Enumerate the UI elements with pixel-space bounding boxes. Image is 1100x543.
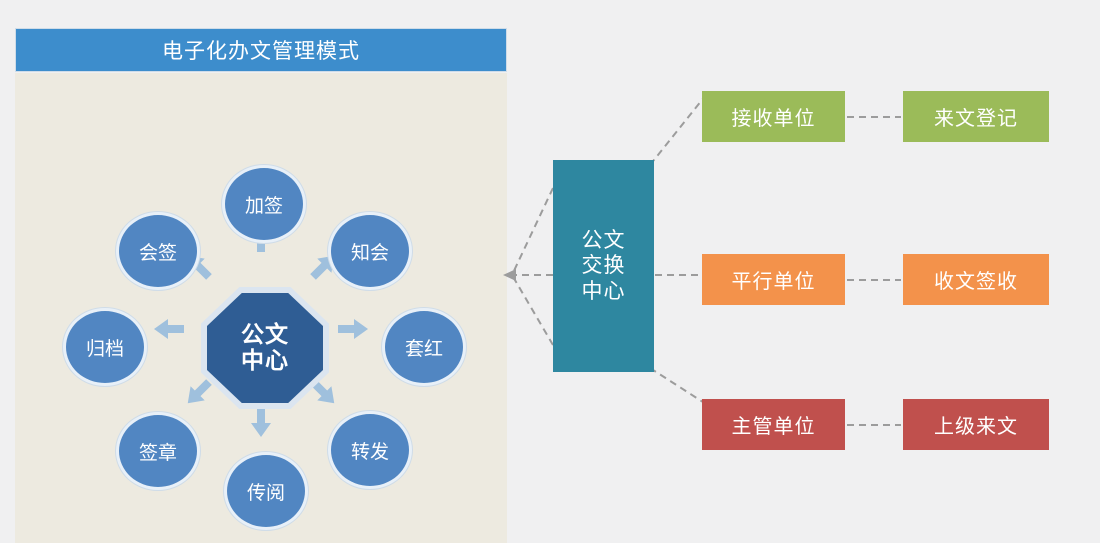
diagram-canvas: 电子化办文管理模式 xyxy=(0,0,1100,543)
flow-target-receipt-signoff[interactable]: 收文签收 xyxy=(903,254,1049,305)
panel-body: 公文 中心 加签 知会 套红 转发 传阅 签章 归档 会签 xyxy=(15,73,507,543)
flow-source-supervising-unit[interactable]: 主管单位 xyxy=(702,399,845,450)
connector-exchange-to-row3 xyxy=(650,368,706,404)
arrow-down-icon xyxy=(251,407,271,437)
node-notify[interactable]: 知会 xyxy=(328,212,412,290)
arrow-left-icon xyxy=(154,319,184,339)
node-countersign[interactable]: 会签 xyxy=(116,212,200,290)
flow-source-peer-unit[interactable]: 平行单位 xyxy=(702,254,845,305)
flow-target-superior-document[interactable]: 上级来文 xyxy=(903,399,1049,450)
exchange-label-line1: 公文 xyxy=(582,228,626,253)
page-title: 电子化办文管理模式 xyxy=(162,35,360,65)
exchange-label-line2: 交换 xyxy=(582,253,626,278)
document-management-panel: 电子化办文管理模式 xyxy=(15,28,507,543)
arrow-right-icon xyxy=(338,319,368,339)
node-archive[interactable]: 归档 xyxy=(63,308,147,386)
exchange-label-line3: 中心 xyxy=(582,279,626,304)
connector-exchange-bottom-to-arrow xyxy=(512,275,553,345)
connector-exchange-top-to-arrow xyxy=(512,188,553,275)
connector-exchange-to-row1 xyxy=(650,95,706,165)
hub-label-line2: 中心 xyxy=(241,348,289,374)
node-circulate[interactable]: 传阅 xyxy=(224,452,308,530)
flow-source-receiving-unit[interactable]: 接收单位 xyxy=(702,91,845,142)
node-forward[interactable]: 转发 xyxy=(328,411,412,489)
hub-label-line1: 公文 xyxy=(241,322,289,348)
flow-target-incoming-registration[interactable]: 来文登记 xyxy=(903,91,1049,142)
node-seal[interactable]: 签章 xyxy=(116,412,200,490)
node-red-header[interactable]: 套红 xyxy=(382,308,466,386)
panel-header: 电子化办文管理模式 xyxy=(15,28,507,72)
document-exchange-center[interactable]: 公文 交换 中心 xyxy=(553,160,654,372)
node-add-signature[interactable]: 加签 xyxy=(222,165,306,243)
